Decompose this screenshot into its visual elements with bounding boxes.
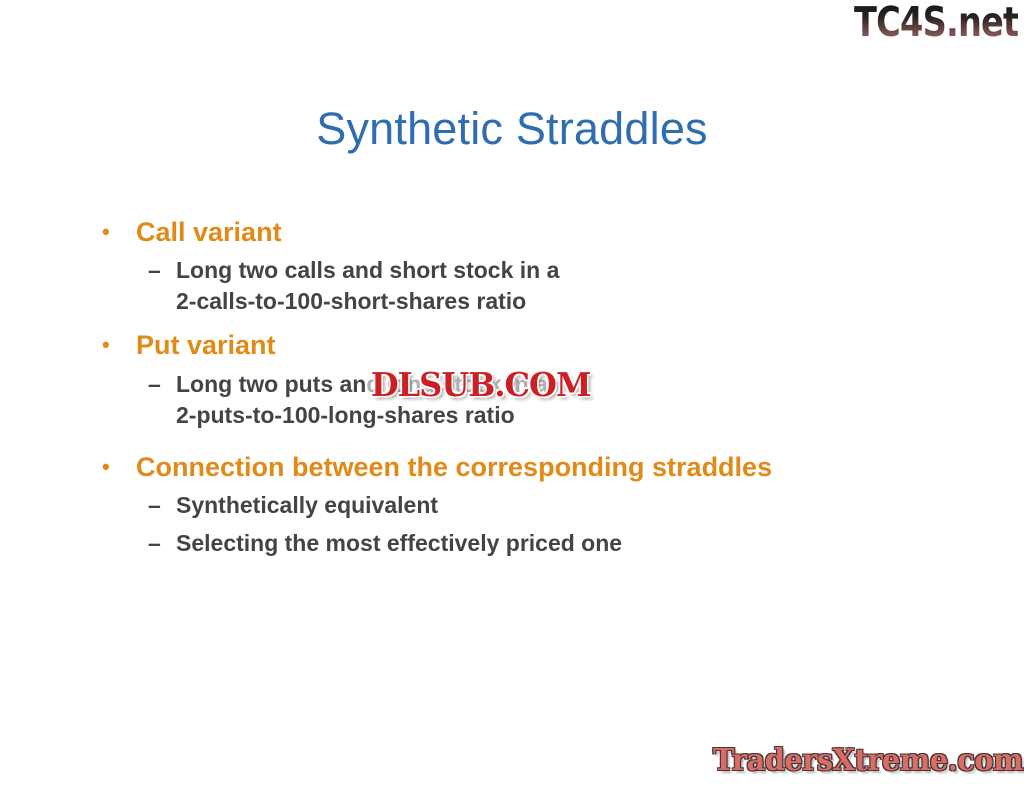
bullet-dot-icon: • bbox=[102, 329, 110, 361]
bullet-level2-selecting-priced-one: – Selecting the most effectively priced … bbox=[96, 528, 976, 559]
slide-canvas: TC4S.net Synthetic Straddles • Call vari… bbox=[0, 0, 1024, 791]
tc4s-watermark: TC4S.net bbox=[854, 2, 1018, 43]
bullet-level1-connection: • Connection between the corresponding s… bbox=[96, 451, 976, 483]
page-title: Synthetic Straddles bbox=[0, 103, 1024, 155]
bullet-level1-call-variant: • Call variant bbox=[96, 216, 976, 248]
dash-icon: – bbox=[148, 490, 161, 521]
bullet-level1-put-variant: • Put variant bbox=[96, 329, 976, 361]
bullet-level2-synthetically-equivalent: – Synthetically equivalent bbox=[96, 490, 976, 521]
tradersxtreme-watermark: TradersXtreme.com bbox=[713, 744, 1023, 777]
bullet-level2-call-ratio: – Long two calls and short stock in a 2-… bbox=[96, 255, 976, 317]
dash-icon: – bbox=[148, 528, 161, 559]
bullet-level2-line1: Selecting the most effectively priced on… bbox=[176, 530, 622, 556]
bullet-level1-label: Call variant bbox=[136, 217, 282, 247]
bullet-level2-line1: Synthetically equivalent bbox=[176, 492, 438, 518]
dlsub-watermark: DLSUB.COM bbox=[366, 366, 595, 404]
bullet-level2-line2: 2-calls-to-100-short-shares ratio bbox=[176, 286, 976, 317]
bullet-dot-icon: • bbox=[102, 451, 110, 483]
dash-icon: – bbox=[148, 369, 161, 400]
bullet-level1-label: Connection between the corresponding str… bbox=[136, 452, 772, 482]
dash-icon: – bbox=[148, 255, 161, 286]
bullet-dot-icon: • bbox=[102, 216, 110, 248]
bullet-level2-line1: Long two calls and short stock in a bbox=[176, 257, 559, 283]
sub-bullet-group-connection: – Synthetically equivalent – Selecting t… bbox=[96, 490, 976, 559]
spacer bbox=[96, 437, 976, 451]
sub-bullet-group-call-variant: – Long two calls and short stock in a 2-… bbox=[96, 255, 976, 317]
bullet-level1-label: Put variant bbox=[136, 330, 276, 360]
bullet-level2-line2: 2-puts-to-100-long-shares ratio bbox=[176, 400, 976, 431]
